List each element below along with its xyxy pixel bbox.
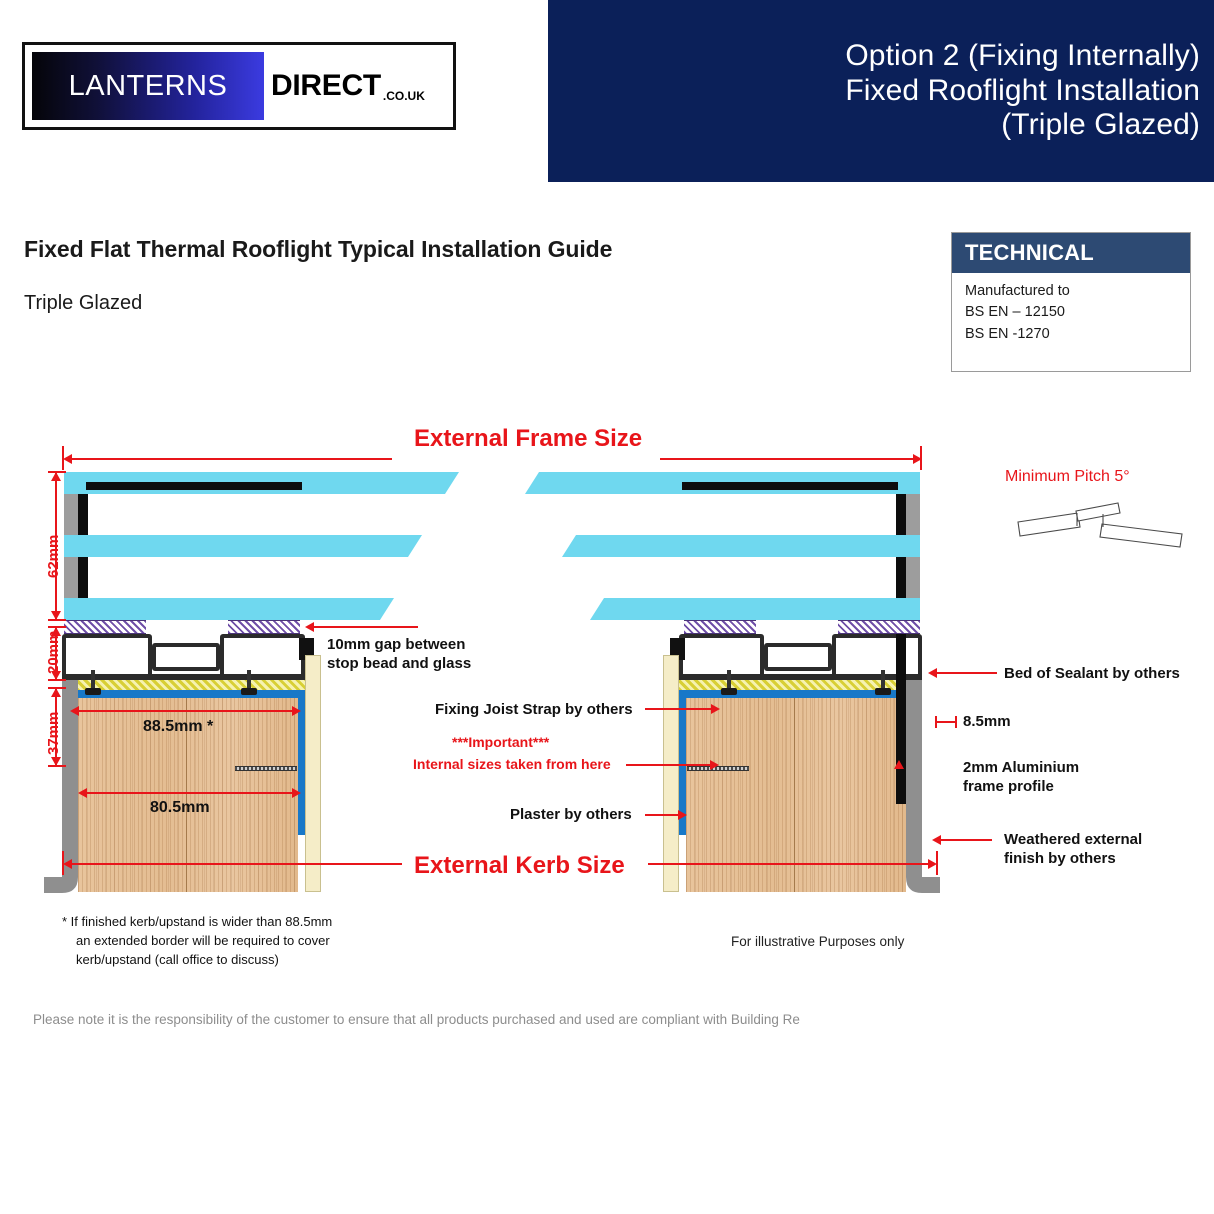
dim-label-20mm: 20mm xyxy=(45,631,62,674)
alu-profile-arrow xyxy=(894,760,904,769)
right-screw-head-1 xyxy=(721,688,737,695)
dim-label-37mm: 37mm xyxy=(45,712,62,755)
callout-alu-line1: 2mm Aluminium xyxy=(963,758,1079,777)
frame-size-dim-line-right xyxy=(660,458,915,460)
left-sealant-hatch-outer xyxy=(64,620,146,634)
dim-85mm-line xyxy=(935,721,957,723)
dim-62mm-tick-bottom xyxy=(48,619,66,621)
logo-domain-suffix: .CO.UK xyxy=(383,89,425,103)
dim-885-arrow-left xyxy=(70,706,79,716)
dim-label-805mm: 80.5mm xyxy=(150,799,210,817)
header-line-3: (Triple Glazed) xyxy=(1001,108,1200,143)
header-line-1: Option 2 (Fixing Internally) xyxy=(845,39,1200,74)
kerb-size-arrow-left xyxy=(63,859,72,869)
left-plaster-top-strip xyxy=(76,690,306,698)
right-frame-profile-upright xyxy=(896,634,906,804)
frame-size-arrow-left xyxy=(63,454,72,464)
illustrative-purposes-note: For illustrative Purposes only xyxy=(731,934,904,949)
footnote-block: * If finished kerb/upstand is wider than… xyxy=(62,913,332,970)
page-subtitle: Triple Glazed xyxy=(24,292,142,315)
important-note-line1: ***Important*** xyxy=(452,733,549,751)
dim-805-arrow-right xyxy=(292,788,301,798)
footnote-line-3: kerb/upstand (call office to discuss) xyxy=(62,951,332,970)
kerb-size-tick-left xyxy=(62,851,64,875)
dim-37mm-tick-bottom xyxy=(48,765,66,767)
right-alu-chamber-inner xyxy=(679,634,764,678)
important-note-arrow xyxy=(710,760,719,770)
dim-885-arrow-right xyxy=(292,706,301,716)
callout-fixing-joist-strap: Fixing Joist Strap by others xyxy=(435,700,633,719)
left-spacer-bar-top xyxy=(86,482,302,490)
header-line-2: Fixed Rooflight Installation xyxy=(845,74,1200,109)
right-plaster-top-strip xyxy=(678,690,908,698)
installation-cross-section-diagram: External Frame Size xyxy=(0,400,1214,1000)
glass-pane-inner-right xyxy=(590,598,920,620)
joist-strap-leader xyxy=(645,708,713,710)
kerb-size-dim-line-left xyxy=(72,863,402,865)
label-external-kerb-size: External Kerb Size xyxy=(414,852,625,880)
important-note-line2: Internal sizes taken from here xyxy=(413,755,611,773)
label-external-frame-size: External Frame Size xyxy=(414,425,642,453)
bed-sealant-arrow xyxy=(928,668,937,678)
right-weathered-finish xyxy=(906,680,922,870)
technical-line-2: BS EN – 12150 xyxy=(965,302,1190,323)
joist-strap-arrow xyxy=(711,704,720,714)
glass-pane-middle-right xyxy=(562,535,920,557)
callout-weathered-finish: Weathered external finish by others xyxy=(1004,830,1142,868)
header-banner: Option 2 (Fixing Internally) Fixed Roofl… xyxy=(548,0,1214,182)
brand-logo: LANTERNS DIRECT .CO.UK xyxy=(22,42,456,130)
technical-heading: TECHNICAL xyxy=(965,240,1094,266)
left-alu-chamber-inner xyxy=(220,634,305,678)
glass-pane-middle-left xyxy=(64,535,422,557)
plaster-arrow xyxy=(678,810,687,820)
gap-callout-arrow xyxy=(305,622,314,632)
right-alu-chamber-outer xyxy=(832,634,922,678)
weathered-finish-arrow xyxy=(932,835,941,845)
left-plaster-board xyxy=(305,655,321,892)
dim-20mm-tick-top xyxy=(48,626,66,628)
footnote-line-2: an extended border will be required to c… xyxy=(62,932,332,951)
callout-alu-line2: frame profile xyxy=(963,777,1079,796)
left-sealant-hatch-inner xyxy=(228,620,300,634)
footnote-line-1: * If finished kerb/upstand is wider than… xyxy=(62,913,332,932)
callout-plaster-by-others: Plaster by others xyxy=(510,805,632,824)
dim-805-arrow-left xyxy=(78,788,87,798)
left-bed-of-sealant xyxy=(76,680,306,690)
logo-word-direct: DIRECT xyxy=(271,69,381,103)
bed-sealant-leader xyxy=(935,672,997,674)
important-note-leader xyxy=(626,764,712,766)
callout-10mm-gap-line1: 10mm gap between xyxy=(327,635,471,654)
dim-20mm-tick-bottom xyxy=(48,679,66,681)
dim-37mm-tick-top xyxy=(48,687,66,689)
left-screw-head-2 xyxy=(241,688,257,695)
gap-callout-leader xyxy=(312,626,418,628)
dim-label-62mm: 62mm xyxy=(45,535,62,578)
left-screw-head-1 xyxy=(85,688,101,695)
callout-weathered-line2: finish by others xyxy=(1004,849,1142,868)
callout-alu-frame-profile: 2mm Aluminium frame profile xyxy=(963,758,1079,796)
callout-10mm-gap: 10mm gap between stop bead and glass xyxy=(327,635,471,673)
callout-10mm-gap-line2: stop bead and glass xyxy=(327,654,471,673)
right-alu-thermal-bridge xyxy=(764,643,832,671)
technical-box-header: TECHNICAL xyxy=(952,233,1190,273)
right-screw-head-2 xyxy=(875,688,891,695)
dim-37mm-arrow-top xyxy=(51,688,61,697)
weathered-finish-leader xyxy=(940,839,992,841)
left-alu-thermal-bridge xyxy=(152,643,220,671)
technical-box-body: Manufactured to BS EN – 12150 BS EN -127… xyxy=(952,273,1190,345)
dim-62mm-arrow-top xyxy=(51,472,61,481)
frame-size-tick-right xyxy=(920,446,922,470)
dim-85mm-tick-right xyxy=(955,716,957,728)
dim-62mm-tick-top xyxy=(48,471,66,473)
logo-word-lanterns: LANTERNS xyxy=(69,70,228,103)
footer-disclaimer: Please note it is the responsibility of … xyxy=(33,1012,800,1027)
logo-gradient-block: LANTERNS xyxy=(32,52,264,120)
right-sealant-hatch-outer xyxy=(838,620,920,634)
callout-weathered-line1: Weathered external xyxy=(1004,830,1142,849)
right-bed-of-sealant xyxy=(678,680,908,690)
technical-box: TECHNICAL Manufactured to BS EN – 12150 … xyxy=(951,232,1191,372)
right-plaster-board xyxy=(663,655,679,892)
left-alu-chamber-outer xyxy=(62,634,152,678)
right-sealant-hatch-inner xyxy=(684,620,756,634)
left-joist-strap xyxy=(235,766,297,771)
dim-885-line xyxy=(76,710,298,712)
kerb-size-dim-line-right xyxy=(648,863,930,865)
page-title: Fixed Flat Thermal Rooflight Typical Ins… xyxy=(24,236,612,263)
dim-label-85mm: 8.5mm xyxy=(963,712,1011,731)
technical-line-3: BS EN -1270 xyxy=(965,324,1190,345)
callout-bed-of-sealant: Bed of Sealant by others xyxy=(1004,664,1180,683)
dim-label-885mm: 88.5mm * xyxy=(143,718,213,736)
kerb-size-tick-right xyxy=(936,851,938,875)
frame-size-dim-line-left xyxy=(72,458,392,460)
glass-pane-inner-left xyxy=(64,598,394,620)
right-spacer-bar-top xyxy=(682,482,898,490)
dim-805-line xyxy=(84,792,298,794)
frame-size-tick-left xyxy=(62,446,64,470)
label-minimum-pitch: Minimum Pitch 5° xyxy=(1005,468,1130,486)
technical-line-1: Manufactured to xyxy=(965,281,1190,302)
